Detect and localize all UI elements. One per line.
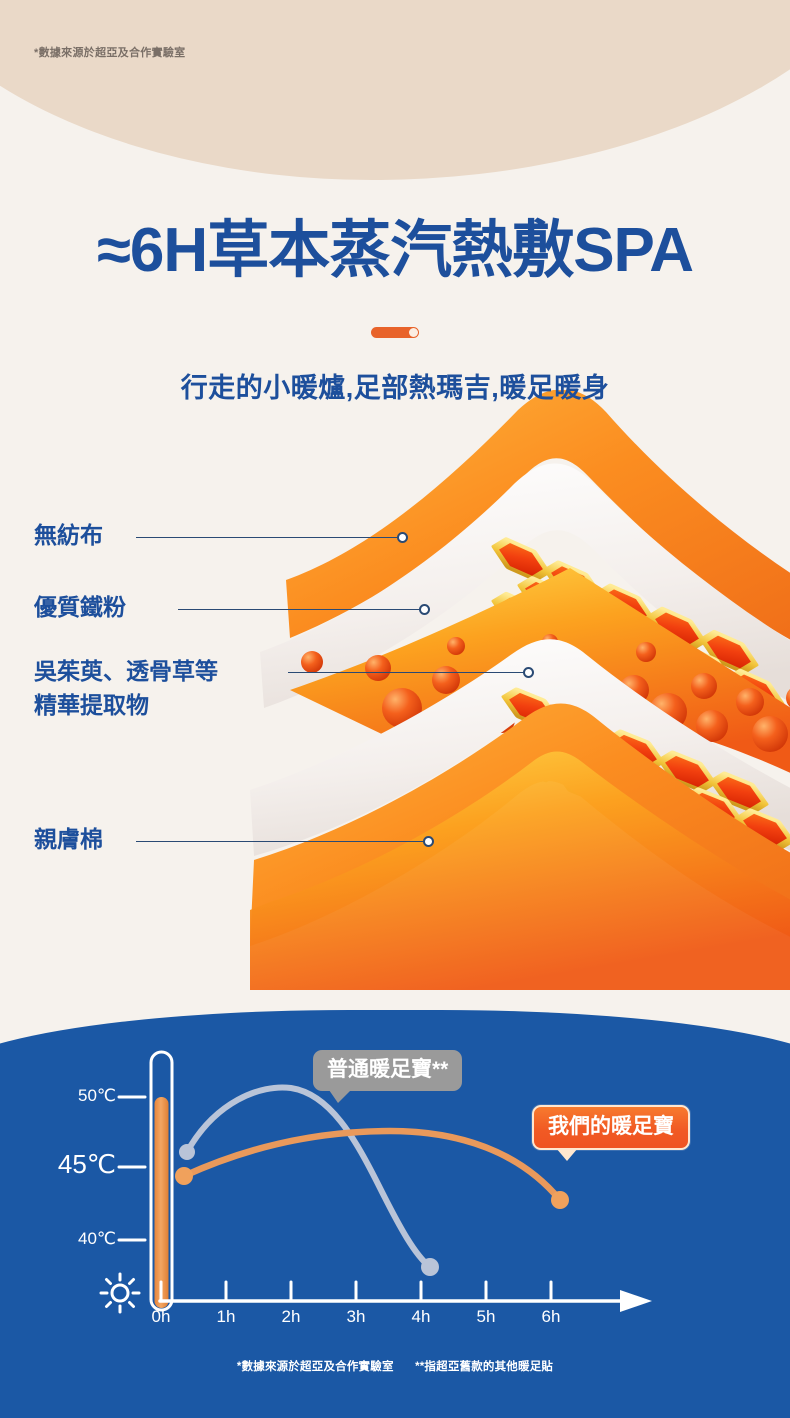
leader-dot-iron-powder	[419, 604, 430, 615]
series-line-ordinary	[187, 1087, 430, 1267]
series-marker-ordinary-end	[421, 1258, 439, 1276]
callout-label-iron-powder: 優質鐵粉	[34, 590, 126, 624]
leader-line-cotton	[136, 841, 424, 842]
x-tick-label-4h: 4h	[391, 1307, 451, 1327]
divider-pill	[371, 327, 419, 338]
series-marker-ordinary-start	[179, 1144, 195, 1160]
leader-line-iron-powder	[178, 609, 420, 610]
leader-dot-herbal-extract	[523, 667, 534, 678]
leader-line-nonwoven	[136, 537, 398, 538]
series-marker-ours-end	[551, 1191, 569, 1209]
tooltip-our-warmer: 我們的暖足寶	[532, 1105, 690, 1150]
footnote-left: *數據來源於超亞及合作實驗室	[237, 1361, 394, 1373]
callout-cotton: 親膚棉	[34, 822, 103, 856]
thermometer-axis	[151, 1052, 172, 1310]
callout-iron-powder: 優質鐵粉	[34, 590, 126, 624]
leader-dot-cotton	[423, 836, 434, 847]
page-title: ≈6H草本蒸汽熱敷SPA	[0, 212, 790, 290]
y-tick-label-40: 40℃	[42, 1229, 116, 1249]
y-tick-label-45: 45℃	[30, 1149, 116, 1180]
y-tick-label-50: 50℃	[42, 1086, 116, 1106]
leader-line-herbal-extract	[288, 672, 530, 673]
chart-footnote: *數據來源於超亞及合作實驗室 **指超亞舊款的其他暖足貼	[0, 1358, 790, 1374]
top-note: *數據來源於超亞及合作實驗室	[34, 44, 185, 60]
tooltip-ordinary-warmer: 普通暖足寶**	[313, 1050, 462, 1091]
leader-dot-nonwoven	[397, 532, 408, 543]
series-marker-ours-start	[175, 1167, 193, 1185]
product-infographic-page: *數據來源於超亞及合作實驗室 ≈6H草本蒸汽熱敷SPA 行走的小暖爐,足部熱瑪吉…	[0, 0, 790, 1418]
x-axis-ticks	[161, 1282, 551, 1300]
footnote-right: **指超亞舊款的其他暖足貼	[415, 1361, 553, 1373]
series-line-ours	[184, 1131, 560, 1200]
x-tick-label-6h: 6h	[521, 1307, 581, 1327]
x-tick-label-2h: 2h	[261, 1307, 321, 1327]
top-beige-band	[0, 0, 790, 180]
callout-label-herbal-extract-2: 精華提取物	[34, 688, 218, 722]
callout-label-herbal-extract: 吳茱萸、透骨草等	[34, 654, 218, 688]
x-tick-label-3h: 3h	[326, 1307, 386, 1327]
callout-label-nonwoven: 無紡布	[34, 518, 103, 552]
x-tick-label-1h: 1h	[196, 1307, 256, 1327]
callout-nonwoven: 無紡布	[34, 518, 103, 552]
callout-herbal-extract: 吳茱萸、透骨草等 精華提取物	[34, 654, 218, 722]
x-tick-label-0h: 0h	[131, 1307, 191, 1327]
callout-label-cotton: 親膚棉	[34, 822, 103, 856]
x-tick-label-5h: 5h	[456, 1307, 516, 1327]
product-layer-illustration	[250, 390, 790, 990]
page-subtitle: 行走的小暖爐,足部熱瑪吉,暖足暖身	[0, 366, 790, 405]
y-axis-ticks	[119, 1097, 145, 1240]
